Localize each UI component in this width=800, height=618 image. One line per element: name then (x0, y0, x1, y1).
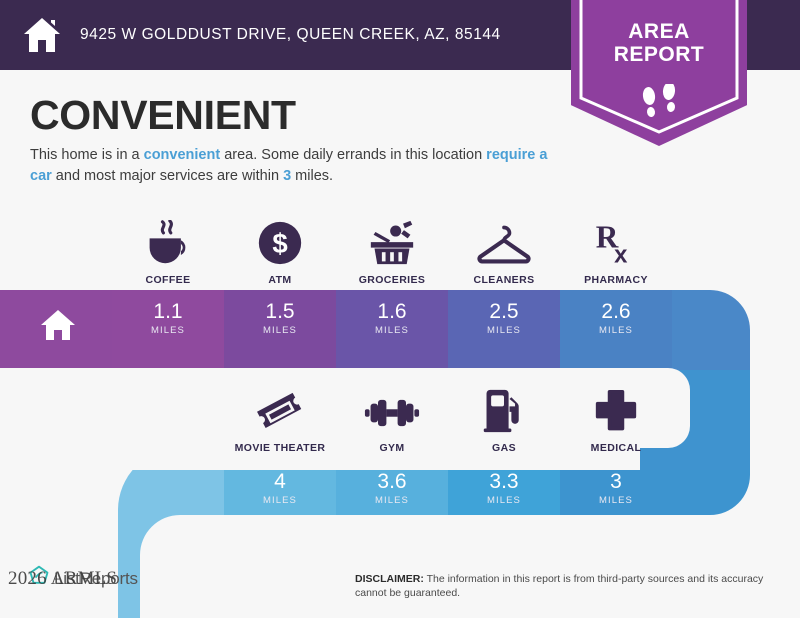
amenity-cell-cleaners: CLEANERS (448, 214, 560, 286)
atm-icon: $ (257, 214, 303, 266)
intro-text-4: miles. (291, 168, 333, 184)
svg-text:x: x (614, 241, 628, 266)
distance-unit: MILES (112, 325, 224, 336)
distance-unit: MILES (336, 325, 448, 336)
amenity-cell-atm: $ ATM (224, 214, 336, 286)
svg-text:$: $ (272, 228, 287, 259)
amenity-cell-gym: GYM (336, 382, 448, 454)
distance-unit: MILES (448, 495, 560, 506)
intro-highlight-1: convenient (144, 147, 221, 163)
distance-value: 3.3 (448, 470, 560, 494)
amenity-label: GROCERIES (359, 274, 426, 286)
intro-text-3: and most major services are within (52, 168, 283, 184)
disclaimer-label: DISCLAIMER: (355, 573, 424, 585)
distance-value: 4 (224, 470, 336, 494)
distance-cell-atm: 1.5 MILES (224, 300, 336, 336)
amenity-label: MOVIE THEATER (235, 442, 326, 454)
cleaners-icon (476, 214, 532, 266)
distance-cell-groceries: 1.6 MILES (336, 300, 448, 336)
distance-cell-medical: 3 MILES (560, 470, 672, 506)
pharmacy-icon: R x (592, 214, 640, 266)
distance-cell-gym: 3.6 MILES (336, 470, 448, 506)
armls-watermark: 2026 ARMLS (8, 568, 117, 590)
distance-value: 1.1 (112, 300, 224, 324)
amenity-label: GAS (492, 442, 516, 454)
amenity-label: COFFEE (146, 274, 191, 286)
badge-title: AREA REPORT (571, 20, 747, 66)
medical-icon (594, 382, 638, 434)
amenity-label: PHARMACY (584, 274, 648, 286)
distance-value: 3 (560, 470, 672, 494)
distance-values-row-2: 4 MILES 3.6 MILES 3.3 MILES 3 MILES (224, 470, 672, 506)
amenity-icon-row-2: MOVIE THEATER GYM (224, 382, 672, 454)
intro-text-2: area. Some daily errands in this locatio… (220, 147, 486, 163)
distance-unit: MILES (560, 495, 672, 506)
distance-value: 3.6 (336, 470, 448, 494)
groceries-icon (366, 214, 418, 266)
page-title: CONVENIENT (30, 92, 296, 139)
gas-icon (481, 382, 527, 434)
gym-icon (364, 382, 420, 434)
amenity-cell-pharmacy: R x PHARMACY (560, 214, 672, 286)
amenity-label: MEDICAL (591, 442, 642, 454)
amenity-icon-row-1: COFFEE $ ATM (112, 214, 672, 286)
movie-theater-icon (254, 382, 306, 434)
distance-cell-pharmacy: 2.6 MILES (560, 300, 672, 336)
amenity-cell-groceries: GROCERIES (336, 214, 448, 286)
distance-value: 2.6 (560, 300, 672, 324)
amenity-label: CLEANERS (474, 274, 535, 286)
footprints-icon (640, 84, 682, 124)
ribbon-turn-left (100, 470, 224, 540)
amenity-cell-movie-theater: MOVIE THEATER (224, 382, 336, 454)
distance-unit: MILES (224, 325, 336, 336)
property-address: 9425 W GOLDDUST DRIVE, QUEEN CREEK, AZ, … (80, 26, 501, 44)
distance-value: 2.5 (448, 300, 560, 324)
distance-cell-gas: 3.3 MILES (448, 470, 560, 506)
intro-text-1: This home is in a (30, 147, 144, 163)
distance-unit: MILES (448, 325, 560, 336)
distance-unit: MILES (224, 495, 336, 506)
distance-unit: MILES (336, 495, 448, 506)
distance-value: 1.6 (336, 300, 448, 324)
amenity-cell-medical: MEDICAL (560, 382, 672, 454)
distance-cell-cleaners: 2.5 MILES (448, 300, 560, 336)
ribbon-turn-right-top (672, 290, 800, 370)
distance-unit: MILES (560, 325, 672, 336)
header-bar: 9425 W GOLDDUST DRIVE, QUEEN CREEK, AZ, … (0, 0, 580, 70)
distance-cell-coffee: 1.1 MILES (112, 300, 224, 336)
amenity-cell-gas: GAS (448, 382, 560, 454)
amenity-label: GYM (379, 442, 404, 454)
distance-value: 1.5 (224, 300, 336, 324)
ribbon-home-icon (40, 308, 76, 347)
coffee-icon (142, 214, 194, 266)
distance-values-row-1: 1.1 MILES 1.5 MILES 1.6 MILES 2.5 MILES … (112, 300, 672, 336)
badge-title-line1: AREA (571, 20, 747, 43)
amenity-cell-coffee: COFFEE (112, 214, 224, 286)
intro-highlight-3: 3 (283, 168, 291, 184)
disclaimer: DISCLAIMER: The information in this repo… (355, 572, 785, 600)
intro-description: This home is in a convenient area. Some … (30, 145, 570, 187)
home-icon (22, 16, 62, 54)
badge-title-line2: REPORT (571, 43, 747, 66)
distance-cell-movie-theater: 4 MILES (224, 470, 336, 506)
amenity-label: ATM (268, 274, 291, 286)
